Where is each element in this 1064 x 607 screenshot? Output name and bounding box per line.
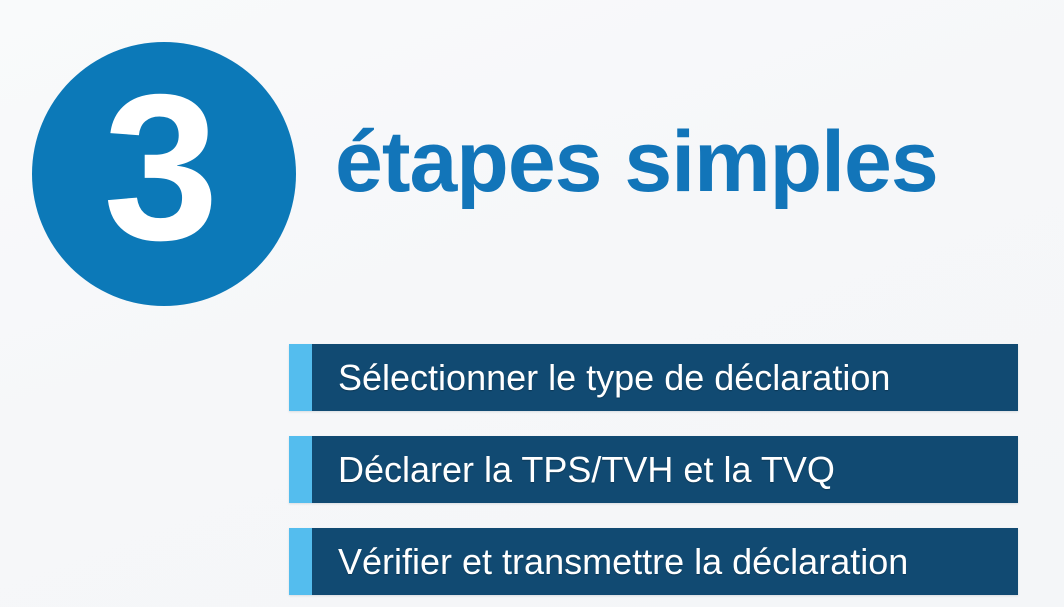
step-body: Sélectionner le type de déclaration	[312, 344, 1018, 411]
step-label: Vérifier et transmettre la déclaration	[338, 544, 908, 580]
steps-list: Sélectionner le type de déclaration Décl…	[289, 344, 1018, 595]
page-title: étapes simples	[335, 119, 938, 205]
slide-canvas: 3 étapes simples Sélectionner le type de…	[0, 0, 1064, 607]
step-count-badge: 3	[32, 42, 296, 306]
step-count-number: 3	[103, 64, 217, 272]
step-item-2[interactable]: Déclarer la TPS/TVH et la TVQ	[289, 436, 1018, 503]
step-label: Sélectionner le type de déclaration	[338, 360, 890, 396]
step-label: Déclarer la TPS/TVH et la TVQ	[338, 452, 835, 488]
step-accent-bar	[289, 528, 312, 595]
step-body: Vérifier et transmettre la déclaration	[312, 528, 1018, 595]
step-accent-bar	[289, 436, 312, 503]
step-item-1[interactable]: Sélectionner le type de déclaration	[289, 344, 1018, 411]
step-item-3[interactable]: Vérifier et transmettre la déclaration	[289, 528, 1018, 595]
step-accent-bar	[289, 344, 312, 411]
step-body: Déclarer la TPS/TVH et la TVQ	[312, 436, 1018, 503]
